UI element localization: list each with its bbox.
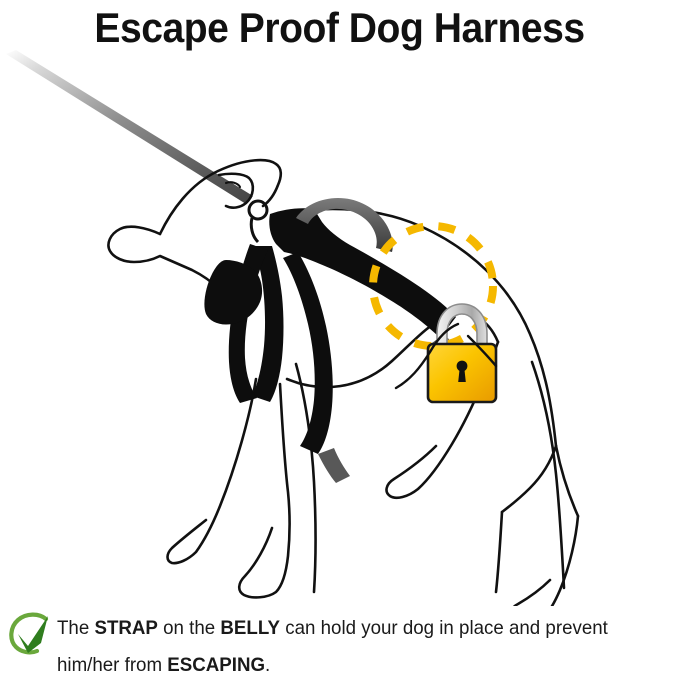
caption-bold-strap: STRAP	[94, 617, 157, 639]
caption-block: The STRAP on the BELLY can hold your dog…	[0, 606, 679, 691]
caption-line-2: him/her from ESCAPING.	[57, 647, 654, 684]
caption-bold-belly: BELLY	[220, 617, 280, 639]
caption-line2-part2: .	[265, 654, 270, 676]
leash	[6, 50, 253, 204]
leash-d-ring	[249, 201, 267, 242]
caption-bold-escaping: ESCAPING	[167, 654, 265, 676]
illustration-svg	[0, 46, 679, 606]
caption-line1-part1: The	[57, 617, 94, 639]
caption-line-1: The STRAP on the BELLY can hold your dog…	[57, 610, 654, 647]
caption-line1-part2: on the	[158, 617, 220, 639]
caption-line1-part3: can hold your dog in place and prevent	[280, 617, 608, 639]
green-check-icon	[8, 612, 52, 656]
caption-text: The STRAP on the BELLY can hold your dog…	[57, 610, 654, 684]
dog-harness-illustration	[0, 46, 679, 606]
product-infographic: Escape Proof Dog Harness	[0, 0, 679, 691]
caption-line2-part1: him/her from	[57, 654, 167, 676]
